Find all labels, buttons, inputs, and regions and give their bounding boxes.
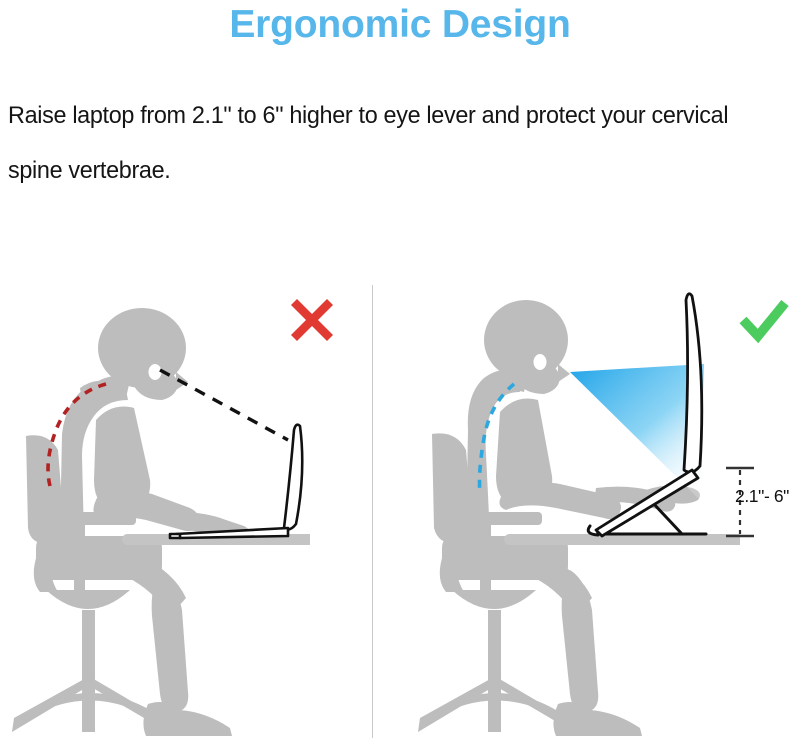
page-title: Ergonomic Design bbox=[0, 2, 800, 48]
cross-mark-icon bbox=[288, 296, 336, 344]
subtitle-text: Raise laptop from 2.1" to 6" higher to e… bbox=[8, 88, 757, 198]
sight-line-bad bbox=[160, 370, 288, 440]
person-body-bad bbox=[43, 308, 249, 736]
desk-surface-good bbox=[504, 534, 724, 545]
correct-posture-panel bbox=[374, 280, 800, 738]
panel-divider bbox=[372, 285, 373, 738]
check-mark-icon bbox=[738, 296, 790, 344]
height-range-label: 2.1"- 6" bbox=[735, 486, 789, 507]
correct-posture-illustration bbox=[374, 280, 800, 738]
person-body-good bbox=[449, 300, 700, 736]
header-section: Ergonomic Design Raise laptop from 2.1" … bbox=[0, 0, 800, 290]
ergonomic-design-infographic: Ergonomic Design Raise laptop from 2.1" … bbox=[0, 0, 800, 738]
incorrect-posture-panel bbox=[0, 280, 372, 738]
eye-bad bbox=[149, 364, 162, 380]
eye-good bbox=[534, 354, 547, 370]
comparison-panels bbox=[0, 280, 800, 738]
incorrect-posture-illustration bbox=[0, 280, 372, 738]
